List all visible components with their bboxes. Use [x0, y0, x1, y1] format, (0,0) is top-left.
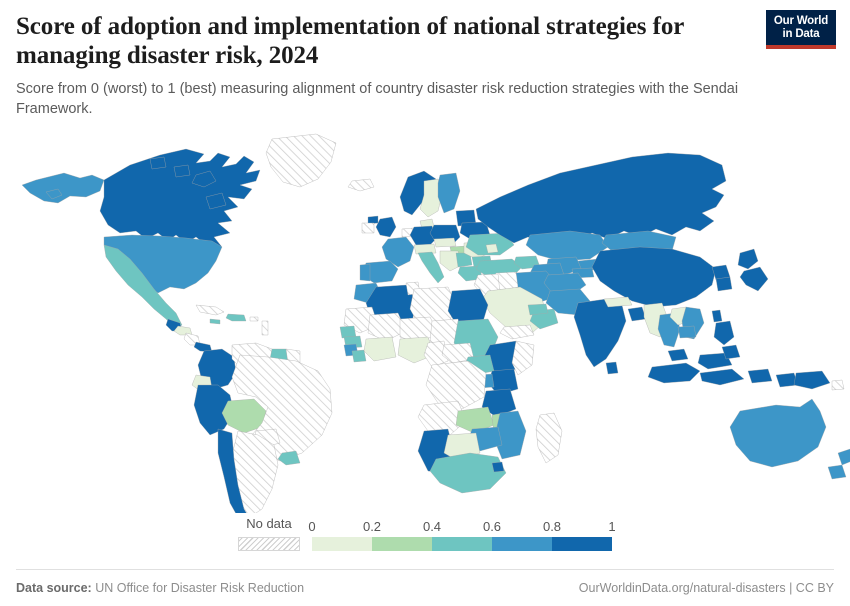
page-title: Score of adoption and implementation of … — [16, 12, 716, 70]
chart-header: Score of adoption and implementation of … — [0, 0, 850, 119]
legend-tick-labels: 0 0.2 0.4 0.6 0.8 1 — [312, 520, 612, 537]
region-new-zealand[interactable] — [828, 449, 850, 479]
region-yemen[interactable] — [500, 325, 534, 339]
region-papua-new-guinea[interactable] — [794, 371, 830, 389]
region-taiwan[interactable] — [712, 310, 722, 322]
region-uae-qatar[interactable] — [528, 304, 548, 315]
region-madagascar[interactable] — [536, 413, 562, 463]
legend-tick-0.8: 0.8 — [543, 520, 561, 533]
region-portugal[interactable] — [360, 264, 370, 281]
chart-footer: Data source: UN Office for Disaster Risk… — [16, 569, 834, 606]
region-bangladesh[interactable] — [628, 307, 646, 321]
owid-logo-line2: in Data — [766, 28, 836, 41]
owid-logo-line1: Our World — [766, 15, 836, 28]
chart-subtitle: Score from 0 (worst) to 1 (best) measuri… — [16, 80, 756, 119]
region-ireland[interactable] — [362, 223, 374, 233]
map-legend: No data 0 0.2 0.4 0.6 0.8 1 — [0, 513, 850, 569]
region-jamaica[interactable] — [210, 319, 220, 324]
legend-bin-4[interactable] — [492, 537, 552, 551]
region-ivory-coast-ghana[interactable] — [364, 337, 396, 361]
legend-no-data-swatch[interactable] — [238, 537, 300, 551]
region-finland[interactable] — [438, 173, 460, 213]
legend-tick-1: 1 — [608, 520, 615, 533]
region-pacific-islands[interactable] — [832, 380, 844, 390]
legend-bin-2[interactable] — [372, 537, 432, 551]
legend-bin-1[interactable] — [312, 537, 372, 551]
legend-tick-0.4: 0.4 — [423, 520, 441, 533]
region-lesser-antilles[interactable] — [262, 321, 268, 335]
chart-container: Score of adoption and implementation of … — [0, 0, 850, 600]
region-moldova[interactable] — [486, 244, 498, 253]
world-map-svg[interactable] — [0, 123, 850, 513]
region-czechia-slovakia[interactable] — [434, 238, 456, 247]
region-australia[interactable] — [730, 399, 826, 467]
owid-logo[interactable]: Our World in Data — [766, 10, 836, 49]
legend-tick-0.6: 0.6 — [483, 520, 501, 533]
footer-source-label: Data source: — [16, 581, 92, 595]
region-nepal-bhutan[interactable] — [604, 297, 632, 307]
region-iceland[interactable] — [348, 179, 374, 191]
legend-tick-0: 0 — [308, 520, 315, 533]
region-japan[interactable] — [738, 249, 768, 291]
region-canada[interactable] — [100, 149, 260, 247]
region-greenland[interactable] — [266, 134, 336, 187]
region-alaska[interactable] — [22, 173, 104, 203]
map-regions[interactable] — [22, 134, 850, 513]
legend-no-data[interactable]: No data — [238, 517, 300, 551]
world-map[interactable] — [0, 123, 850, 513]
region-cuba[interactable] — [196, 305, 224, 315]
legend-bin-3[interactable] — [432, 537, 492, 551]
region-kazakhstan[interactable] — [526, 231, 608, 261]
region-somalia[interactable] — [512, 341, 534, 375]
region-russia[interactable] — [476, 153, 726, 243]
footer-source-value: UN Office for Disaster Risk Reduction — [95, 581, 304, 595]
footer-attribution[interactable]: OurWorldinData.org/natural-disasters | C… — [579, 581, 834, 595]
region-sri-lanka[interactable] — [606, 362, 618, 374]
region-cambodia[interactable] — [678, 326, 696, 338]
region-south-africa[interactable] — [430, 453, 506, 493]
region-india[interactable] — [574, 299, 626, 367]
legend-scale[interactable]: 0 0.2 0.4 0.6 0.8 1 — [312, 520, 612, 551]
region-philippines[interactable] — [714, 321, 740, 359]
region-eswatini-lesotho[interactable] — [492, 462, 504, 472]
region-south-korea[interactable] — [716, 277, 732, 291]
legend-color-bar[interactable] — [312, 537, 612, 551]
legend-no-data-label: No data — [238, 517, 300, 530]
region-puerto-rico[interactable] — [250, 317, 258, 321]
footer-data-source: Data source: UN Office for Disaster Risk… — [16, 581, 304, 595]
region-hispaniola[interactable] — [226, 314, 246, 321]
region-liberia[interactable] — [352, 350, 366, 362]
region-senegal[interactable] — [340, 326, 356, 338]
region-china[interactable] — [592, 247, 716, 307]
legend-tick-0.2: 0.2 — [363, 520, 381, 533]
legend-bin-5[interactable] — [552, 537, 612, 551]
